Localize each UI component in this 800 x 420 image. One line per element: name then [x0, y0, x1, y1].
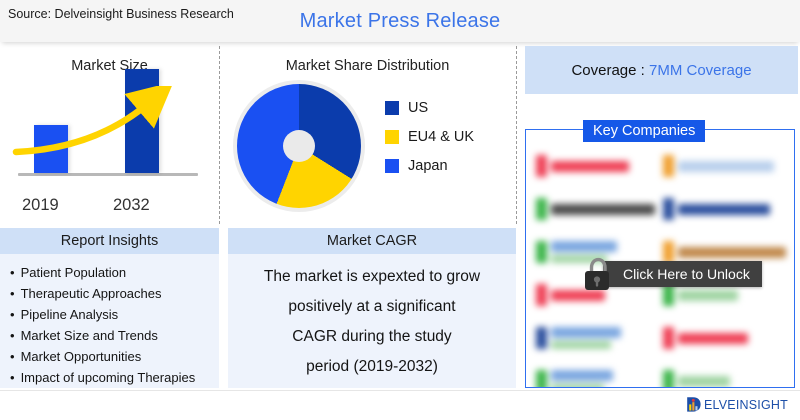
cagr-text-line: positively at a significant — [242, 292, 502, 322]
company-logo-mark-icon — [536, 327, 547, 349]
company-logo-wordmark — [678, 161, 774, 172]
company-logo-mark-icon — [663, 155, 674, 177]
company-logo-wordmark — [678, 333, 748, 344]
company-logo-wordmark — [551, 327, 621, 338]
bullet-dot-icon: • — [10, 346, 15, 367]
x-tick-2032: 2032 — [113, 196, 150, 215]
market-share-panel: Market Share Distribution USEU4 & UKJapa… — [219, 46, 516, 224]
company-logo-wordmark — [678, 204, 770, 215]
company-logo — [536, 361, 657, 388]
legend-item-us: US — [385, 100, 474, 116]
company-logo — [663, 146, 786, 186]
market-size-bar-chart — [0, 86, 219, 198]
unlock-tooltip[interactable]: Click Here to Unlock — [603, 261, 762, 287]
market-size-panel: Market Size 2019 2032 — [0, 46, 219, 224]
bullet-dot-icon: • — [10, 283, 15, 304]
company-logo-mark-icon — [663, 370, 674, 388]
bullet-dot-icon: • — [10, 304, 15, 325]
legend-swatch-icon — [385, 101, 399, 115]
list-item-label: Impact of upcoming Therapies — [21, 367, 196, 388]
donut-hole — [283, 130, 315, 162]
company-logo-mark-icon — [536, 198, 547, 220]
list-item-label: Market Size and Trends — [21, 325, 158, 346]
bullet-dot-icon: • — [10, 367, 15, 388]
market-share-donut-chart — [233, 80, 365, 212]
cagr-text-line: The market is expexted to grow — [242, 262, 502, 292]
company-logo-mark-icon — [536, 155, 547, 177]
source-note: Source: Delveinsight Business Research — [8, 7, 234, 21]
growth-arrow-icon — [0, 86, 219, 198]
list-item: •Impact of upcoming Therapies — [10, 367, 219, 388]
legend-item-eu4-uk: EU4 & UK — [385, 129, 474, 145]
delveinsight-wordmark: ELVEINSIGHT — [704, 398, 788, 412]
coverage-label: Coverage : — [571, 62, 649, 79]
company-logo — [663, 318, 786, 358]
report-insights-list: •Patient Population•Therapeutic Approach… — [0, 254, 219, 388]
list-item-label: Market Opportunities — [21, 346, 142, 367]
market-cagr-panel: Market CAGR The market is expexted to gr… — [228, 228, 516, 388]
report-insights-panel: Report Insights •Patient Population•Ther… — [0, 228, 219, 388]
market-cagr-text: The market is expexted to growpositively… — [228, 254, 516, 382]
company-logo-mark-icon — [536, 284, 547, 306]
list-item-label: Pipeline Analysis — [21, 304, 119, 325]
cagr-text-line: CAGR during the study — [242, 322, 502, 352]
legend-swatch-icon — [385, 159, 399, 173]
list-item: •Market Size and Trends — [10, 325, 219, 346]
page-title: Market Press Release — [300, 10, 501, 33]
market-size-title: Market Size — [0, 46, 219, 74]
market-share-title: Market Share Distribution — [219, 46, 516, 74]
list-item: •Therapeutic Approaches — [10, 283, 219, 304]
company-logo-mark-icon — [536, 241, 547, 263]
company-logo — [536, 318, 657, 358]
market-share-legend: USEU4 & UKJapan — [385, 100, 474, 174]
company-logo-wordmark — [551, 241, 617, 252]
unlock-control[interactable]: Click Here to Unlock — [581, 256, 762, 292]
company-logo-wordmark — [551, 161, 629, 172]
company-logo-wordmark — [551, 370, 613, 381]
company-logo-wordmark-secondary — [551, 341, 611, 349]
legend-label: US — [408, 100, 428, 116]
legend-label: Japan — [408, 158, 448, 174]
company-logo — [663, 361, 786, 388]
market-cagr-title: Market CAGR — [228, 228, 516, 254]
footer-bar — [0, 390, 800, 420]
company-logo-wordmark-secondary — [551, 384, 604, 388]
padlock-icon[interactable] — [581, 256, 615, 292]
cagr-text-line: period (2019-2032) — [242, 352, 502, 382]
company-logo-mark-icon — [663, 198, 674, 220]
legend-swatch-icon — [385, 130, 399, 144]
delveinsight-logo: ELVEINSIGHT — [686, 396, 788, 413]
company-logo-mark-icon — [663, 327, 674, 349]
bullet-dot-icon: • — [10, 262, 15, 283]
coverage-value: 7MM Coverage — [649, 62, 752, 79]
list-item: •Patient Population — [10, 262, 219, 283]
legend-label: EU4 & UK — [408, 129, 474, 145]
list-item: •Market Opportunities — [10, 346, 219, 367]
company-logo — [536, 146, 657, 186]
bullet-dot-icon: • — [10, 325, 15, 346]
divider-vertical-right — [516, 46, 517, 224]
key-companies-badge: Key Companies — [583, 120, 705, 142]
legend-item-japan: Japan — [385, 158, 474, 174]
report-insights-title: Report Insights — [0, 228, 219, 254]
list-item: •Pipeline Analysis — [10, 304, 219, 325]
coverage-banner: Coverage : 7MM Coverage — [525, 46, 798, 94]
delveinsight-mark-icon — [686, 396, 703, 413]
list-item-label: Patient Population — [21, 262, 127, 283]
company-logo-mark-icon — [536, 370, 547, 388]
company-logo — [536, 189, 657, 229]
company-logo-wordmark — [551, 204, 655, 215]
company-logo-wordmark — [678, 376, 730, 387]
coverage-label-wrap: Coverage : 7MM Coverage — [571, 62, 751, 79]
key-companies-panel: Key Companies Click Here to Unlock — [525, 120, 795, 388]
x-tick-2019: 2019 — [22, 196, 59, 215]
company-logo — [663, 189, 786, 229]
list-item-label: Therapeutic Approaches — [21, 283, 162, 304]
press-release-infographic: Market Press Release Market Size 2019 20… — [0, 0, 800, 420]
